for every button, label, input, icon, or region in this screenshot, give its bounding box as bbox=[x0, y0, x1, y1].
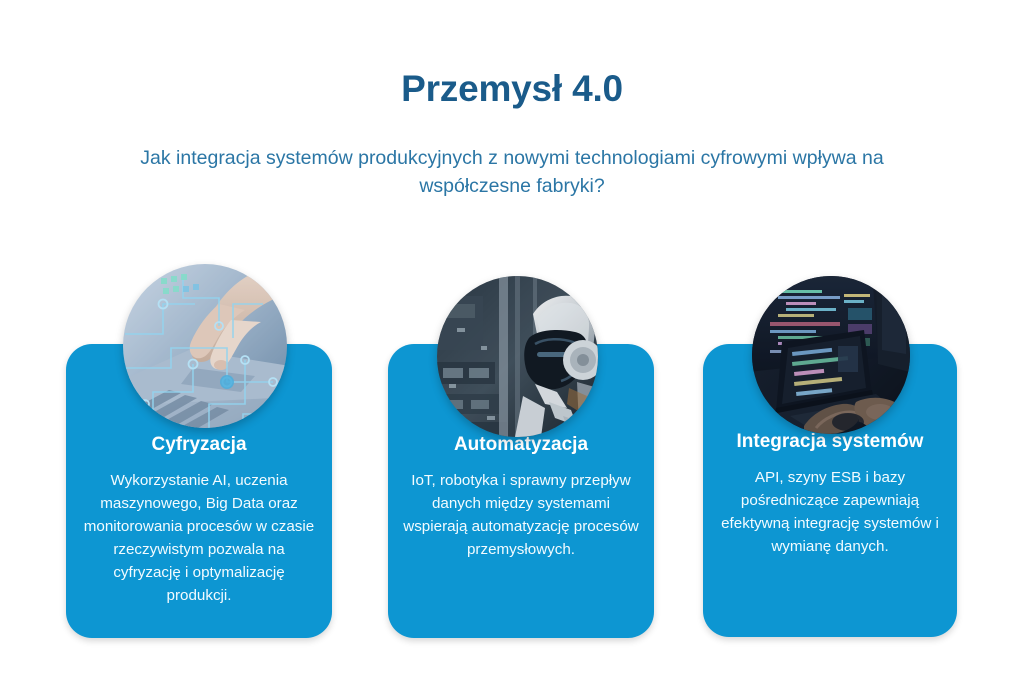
card-body-text: API, szyny ESB i bazy pośredniczące zape… bbox=[713, 466, 947, 558]
card-body-text: IoT, robotyka i sprawny przepływ danych … bbox=[402, 469, 640, 561]
card-body-text: Wykorzystanie AI, uczenia maszynowego, B… bbox=[80, 469, 318, 608]
card-heading: Integracja systemów bbox=[703, 431, 957, 453]
card-image-cyfryzacja bbox=[123, 264, 287, 428]
card-heading: Cyfryzacja bbox=[66, 434, 332, 456]
card-image-automatyzacja bbox=[437, 276, 598, 437]
infographic-slide: Przemysł 4.0 Jak integracja systemów pro… bbox=[0, 0, 1024, 680]
page-subtitle: Jak integracja systemów produkcyjnych z … bbox=[92, 145, 932, 200]
card-heading: Automatyzacja bbox=[388, 434, 654, 456]
card-image-integracja-systemow bbox=[752, 276, 910, 434]
page-title: Przemysł 4.0 bbox=[0, 68, 1024, 110]
